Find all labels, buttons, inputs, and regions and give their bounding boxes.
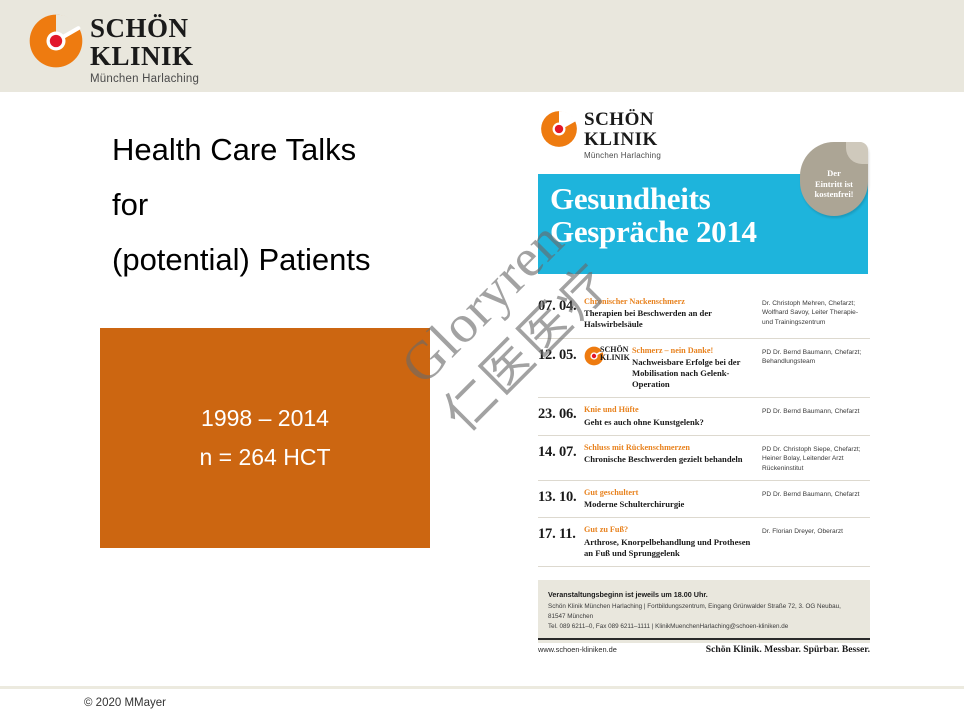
poster-footer: www.schoen-kliniken.de Schön Klinik. Mes… xyxy=(538,644,870,655)
poster-info-box: Veranstaltungsbeginn ist jeweils um 18.0… xyxy=(538,580,870,643)
title-line-3: (potential) Patients xyxy=(112,244,512,275)
event-subline: Moderne Schulterchirurgie xyxy=(584,499,756,510)
info-address: Schön Klinik München Harlaching | Fortbi… xyxy=(548,602,860,622)
event-speaker: PD Dr. Bernd Baumann, Chefarzt xyxy=(762,405,870,416)
stat-box: 1998 – 2014 n = 264 HCT xyxy=(100,328,430,548)
event-body: Chronischer Nackenschmerz Therapien bei … xyxy=(584,297,762,331)
info-start-time: Veranstaltungsbeginn ist jeweils um 18.0… xyxy=(548,590,860,599)
table-row: 13. 10. Gut geschultert Moderne Schulter… xyxy=(538,480,870,517)
stat-period: 1998 – 2014 xyxy=(201,407,329,430)
poster-claim: Schön Klinik. Messbar. Spürbar. Besser. xyxy=(706,644,870,655)
event-list: 07. 04. Chronischer Nackenschmerz Therap… xyxy=(538,290,870,567)
event-inline-logo-text: SCHÖN KLINIK xyxy=(600,346,630,363)
poster-brand-line2: KLINIK xyxy=(584,130,661,149)
badge-line2: Eintritt ist xyxy=(814,179,853,190)
event-inline-logo: SCHÖN KLINIK xyxy=(584,346,630,366)
event-body: Schmerz – nein Danke! Nachweisbare Erfol… xyxy=(632,346,762,391)
event-subline: Therapien bei Beschwerden an der Halswir… xyxy=(584,308,756,330)
event-date: 23. 06. xyxy=(538,405,584,423)
event-body: Gut zu Fuß? Arthrose, Knorpelbehandlung … xyxy=(584,525,762,559)
copyright-notice: © 2020 MMayer xyxy=(84,697,166,709)
poster-website: www.schoen-kliniken.de xyxy=(538,645,617,654)
event-date: 14. 07. xyxy=(538,443,584,461)
free-entry-badge: Der Eintritt ist kostenfrei! xyxy=(800,142,868,216)
title-line-2: for xyxy=(112,189,512,220)
event-headline: Chronischer Nackenschmerz xyxy=(584,297,756,307)
event-headline: Schluss mit Rückenschmerzen xyxy=(584,443,756,453)
brand-line1: SCHÖN xyxy=(90,15,199,42)
event-headline: Gut zu Fuß? xyxy=(584,525,756,535)
schoen-klinik-logo-icon xyxy=(28,13,84,69)
poster-divider xyxy=(538,638,870,640)
brand-logo: SCHÖN KLINIK München Harlaching xyxy=(28,13,203,81)
table-row: 23. 06. Knie und Hüfte Geht es auch ohne… xyxy=(538,397,870,434)
badge-line1: Der xyxy=(814,168,853,179)
brand-wordmark: SCHÖN KLINIK München Harlaching xyxy=(90,13,199,86)
event-body: Gut geschultert Moderne Schulterchirurgi… xyxy=(584,488,762,510)
event-speaker: Dr. Christoph Mehren, Chefarzt; Wolfhard… xyxy=(762,297,870,327)
event-body: Schluss mit Rückenschmerzen Chronische B… xyxy=(584,443,762,465)
poster-image: SCHÖN KLINIK München Harlaching Der Eint… xyxy=(532,104,876,656)
event-date: 07. 04. xyxy=(538,297,584,315)
event-date: 12. 05. xyxy=(538,346,584,364)
badge-text: Der Eintritt ist kostenfrei! xyxy=(814,158,853,200)
info-contact: Tel. 089 6211–0, Fax 089 6211–1111 | Kli… xyxy=(548,622,860,632)
event-inline-logo-line2: KLINIK xyxy=(600,354,630,362)
event-speaker: PD Dr. Bernd Baumann, Chefarzt; Behandlu… xyxy=(762,346,870,367)
table-row: 14. 07. Schluss mit Rückenschmerzen Chro… xyxy=(538,435,870,480)
title-line-1: Health Care Talks xyxy=(112,134,512,165)
footer-divider xyxy=(0,686,964,689)
event-headline: Gut geschultert xyxy=(584,488,756,498)
table-row: 07. 04. Chronischer Nackenschmerz Therap… xyxy=(538,290,870,338)
header-band: SCHÖN KLINIK München Harlaching xyxy=(0,0,964,92)
event-subline: Nachweisbare Erfolge bei der Mobilisatio… xyxy=(632,357,756,391)
page-title: Health Care Talks for (potential) Patien… xyxy=(112,134,512,299)
event-subline: Arthrose, Knorpelbehandlung und Prothese… xyxy=(584,537,756,559)
event-headline: Schmerz – nein Danke! xyxy=(632,346,756,356)
badge-line3: kostenfrei! xyxy=(814,189,853,200)
event-speaker: Dr. Florian Dreyer, Oberarzt xyxy=(762,525,870,536)
poster-brand-wordmark: SCHÖN KLINIK München Harlaching xyxy=(584,108,661,160)
stat-count: n = 264 HCT xyxy=(199,446,330,469)
event-body: Knie und Hüfte Geht es auch ohne Kunstge… xyxy=(584,405,762,427)
brand-line2: KLINIK xyxy=(90,43,199,70)
slide: SCHÖN KLINIK München Harlaching Health C… xyxy=(0,0,964,717)
event-subline: Chronische Beschwerden gezielt behandeln xyxy=(584,454,756,465)
event-date: 17. 11. xyxy=(538,525,584,543)
schoen-klinik-logo-icon xyxy=(540,110,578,148)
poster-brand-line1: SCHÖN xyxy=(584,110,661,129)
event-speaker: PD Dr. Bernd Baumann, Chefarzt xyxy=(762,488,870,499)
poster-brand-logo: SCHÖN KLINIK München Harlaching xyxy=(540,110,700,166)
event-headline: Knie und Hüfte xyxy=(584,405,756,415)
table-row: 12. 05. SCHÖN KLINIK Schmerz – nein Dank… xyxy=(538,338,870,398)
event-subline: Geht es auch ohne Kunstgelenk? xyxy=(584,417,756,428)
table-row: 17. 11. Gut zu Fuß? Arthrose, Knorpelbeh… xyxy=(538,517,870,567)
event-speaker: PD Dr. Christoph Siepe, Chefarzt; Heiner… xyxy=(762,443,870,473)
event-date: 13. 10. xyxy=(538,488,584,506)
brand-location: München Harlaching xyxy=(90,74,199,86)
poster-brand-location: München Harlaching xyxy=(584,152,661,160)
hero-line-2: Gespräche 2014 xyxy=(550,215,868,248)
